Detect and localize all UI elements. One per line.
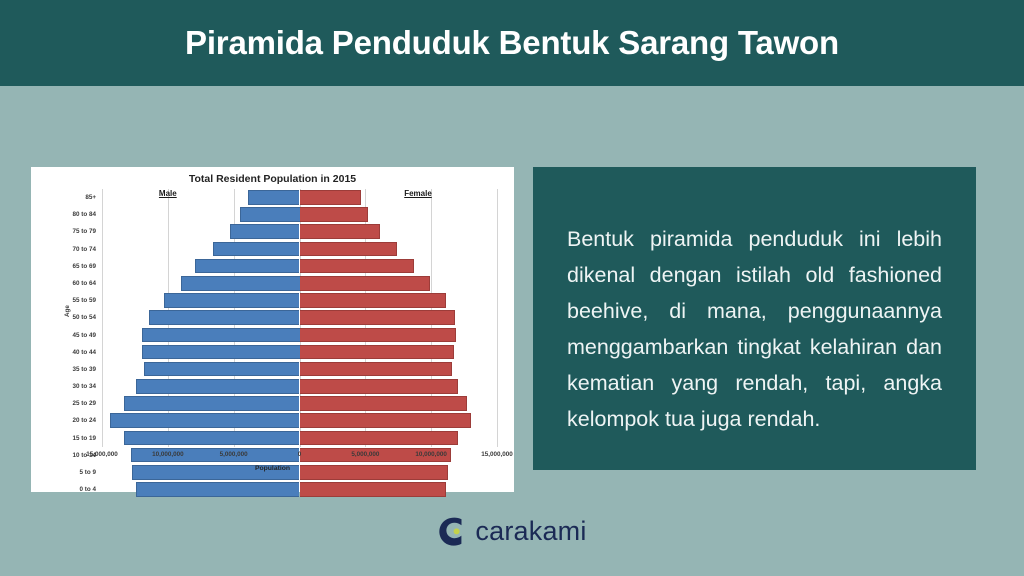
bar-female	[300, 413, 471, 428]
bar-female	[300, 310, 455, 325]
legend-male: Male	[159, 189, 177, 198]
pyramid-row: 25 to 29	[102, 395, 497, 412]
y-tick-label: 15 to 19	[36, 430, 102, 447]
bar-male	[213, 242, 300, 257]
x-axis-label: Population	[31, 465, 514, 472]
x-tick-label: 15,000,000	[481, 451, 513, 458]
carakami-c-icon	[437, 516, 467, 547]
pyramid-row: 20 to 24	[102, 412, 497, 429]
bar-female	[300, 207, 368, 222]
y-tick-label: 25 to 29	[36, 395, 102, 412]
bar-female	[300, 328, 457, 343]
y-tick-label: 45 to 49	[36, 327, 102, 344]
pyramid-row: 60 to 64	[102, 275, 497, 292]
y-tick-label: 0 to 4	[36, 481, 102, 498]
bar-female	[300, 259, 415, 274]
pyramid-row: 55 to 59	[102, 292, 497, 309]
bar-female	[300, 396, 467, 411]
y-tick-label: 50 to 54	[36, 309, 102, 326]
x-tick-label: 5,000,000	[351, 451, 379, 458]
bar-female	[300, 482, 446, 497]
x-tick-label: 10,000,000	[152, 451, 184, 458]
y-tick-label: 85+	[36, 189, 102, 206]
chart-title: Total Resident Population in 2015	[31, 173, 514, 185]
pyramid-row: 70 to 74	[102, 241, 497, 258]
bar-male	[164, 293, 300, 308]
y-tick-label: 65 to 69	[36, 258, 102, 275]
x-tick-label: 0	[298, 451, 302, 458]
bar-male	[110, 413, 300, 428]
bar-female	[300, 379, 458, 394]
bar-male	[149, 310, 299, 325]
pyramid-row: 45 to 49	[102, 327, 497, 344]
bar-male	[136, 379, 299, 394]
plot-area: 85+80 to 8475 to 7970 to 7465 to 6960 to…	[102, 189, 497, 447]
bar-male	[124, 431, 299, 446]
y-tick-label: 75 to 79	[36, 223, 102, 240]
y-tick-label: 35 to 39	[36, 361, 102, 378]
y-tick-label: 60 to 64	[36, 275, 102, 292]
bar-male	[142, 345, 300, 360]
pyramid-row: 15 to 19	[102, 430, 497, 447]
y-tick-label: 40 to 44	[36, 344, 102, 361]
description-panel: Bentuk piramida penduduk ini lebih diken…	[533, 167, 976, 470]
x-tick-label: 15,000,000	[86, 451, 118, 458]
y-tick-label: 80 to 84	[36, 206, 102, 223]
pyramid-row: 75 to 79	[102, 223, 497, 240]
x-tick-label: 10,000,000	[415, 451, 447, 458]
bar-female	[300, 190, 362, 205]
y-tick-label: 55 to 59	[36, 292, 102, 309]
pyramid-row: 30 to 34	[102, 378, 497, 395]
pyramid-row: 50 to 54	[102, 309, 497, 326]
pyramid-row: 65 to 69	[102, 258, 497, 275]
y-tick-label: 70 to 74	[36, 241, 102, 258]
bar-male	[142, 328, 300, 343]
bar-male	[248, 190, 299, 205]
x-tick-label: 5,000,000	[220, 451, 248, 458]
header-banner: Piramida Penduduk Bentuk Sarang Tawon	[0, 0, 1024, 86]
pyramid-row: 80 to 84	[102, 206, 497, 223]
bar-male	[124, 396, 299, 411]
y-tick-label: 30 to 34	[36, 378, 102, 395]
bar-female	[300, 431, 458, 446]
bar-female	[300, 345, 454, 360]
gridline	[497, 189, 498, 447]
logo-wordmark: carakami	[475, 516, 586, 547]
legend-female: Female	[404, 189, 432, 198]
slide: Piramida Penduduk Bentuk Sarang Tawon To…	[0, 0, 1024, 576]
bar-female	[300, 293, 446, 308]
brand-logo: carakami	[0, 505, 1024, 557]
bar-male	[195, 259, 299, 274]
description-text: Bentuk piramida penduduk ini lebih diken…	[567, 221, 942, 437]
bar-male	[136, 482, 299, 497]
pyramid-row: 0 to 4	[102, 481, 497, 498]
bar-female	[300, 242, 397, 257]
page-title: Piramida Penduduk Bentuk Sarang Tawon	[185, 24, 839, 62]
chart-card: Total Resident Population in 2015 Age 85…	[31, 167, 514, 492]
bar-male	[230, 224, 300, 239]
bar-female	[300, 362, 453, 377]
pyramid-row: 40 to 44	[102, 344, 497, 361]
bar-female	[300, 224, 380, 239]
bar-female	[300, 276, 430, 291]
bar-male	[144, 362, 299, 377]
y-tick-label: 20 to 24	[36, 412, 102, 429]
bar-male	[181, 276, 300, 291]
bar-male	[240, 207, 299, 222]
pyramid-row: 35 to 39	[102, 361, 497, 378]
